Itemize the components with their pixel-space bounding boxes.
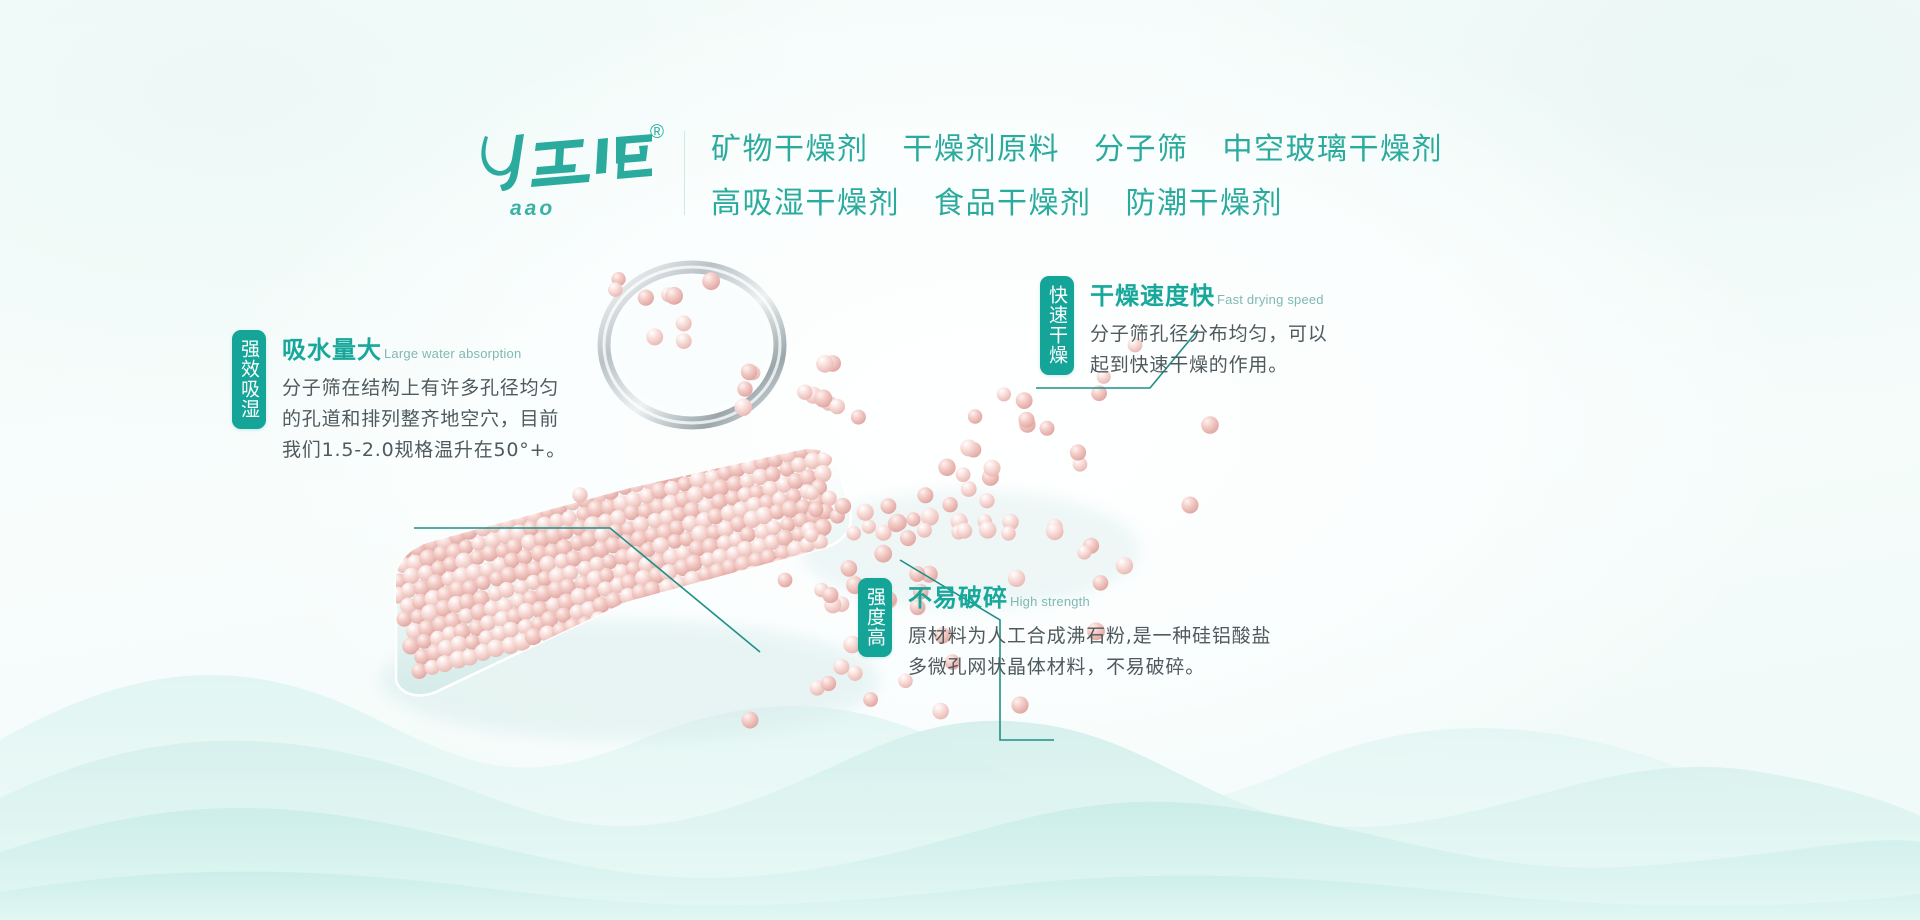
callout-text-line: 分子筛孔径分布均匀，可以: [1090, 319, 1328, 350]
callout-title-strength: 不易破碎: [908, 578, 1008, 613]
callout-text-line: 原材料为人工合成沸石粉,是一种硅铝酸盐: [908, 621, 1271, 652]
callout-text-line: 分子筛在结构上有许多孔径均匀: [282, 373, 566, 404]
registered-trademark-icon: ®: [650, 123, 664, 142]
bottle-cap-ring: [604, 267, 780, 423]
keyword-item[interactable]: 矿物干燥剂: [711, 124, 869, 168]
keyword-item[interactable]: 防潮干燥剂: [1126, 178, 1284, 222]
callout-text-line: 多微孔网状晶体材料，不易破碎。: [908, 652, 1271, 683]
callout-subtitle-strength: High strength: [1010, 594, 1090, 609]
callout-speed: 快速干燥 干燥速度快 Fast drying speed 分子筛孔径分布均匀，可…: [1040, 276, 1328, 381]
callout-title-absorption: 吸水量大: [282, 330, 382, 365]
callout-badge-absorption: 强效吸湿: [232, 330, 266, 429]
callout-text-strength: 原材料为人工合成沸石粉,是一种硅铝酸盐 多微孔网状晶体材料，不易破碎。: [908, 621, 1271, 683]
keyword-item[interactable]: 干燥剂原料: [903, 124, 1061, 168]
banner-header: ® aao 矿物干燥剂 干燥剂原料 分子筛 中空玻璃干燥剂 高吸湿干燥剂 食品干…: [0, 118, 1920, 228]
callout-text-speed: 分子筛孔径分布均匀，可以 起到快速干燥的作用。: [1090, 319, 1328, 381]
keyword-item[interactable]: 中空玻璃干燥剂: [1223, 124, 1444, 168]
callout-title-speed: 干燥速度快: [1090, 276, 1215, 311]
callout-text-line: 起到快速干燥的作用。: [1090, 350, 1328, 381]
callout-text-line: 的孔道和排列整齐地空穴，目前: [282, 404, 566, 435]
header-divider: [684, 131, 685, 215]
callout-text-line: 我们1.5-2.0规格温升在50°+。: [282, 435, 566, 466]
callout-strength: 强度高 不易破碎 High strength 原材料为人工合成沸石粉,是一种硅铝…: [858, 578, 1271, 683]
logo-pinyin: aao: [510, 197, 555, 221]
banner-background: ® aao 矿物干燥剂 干燥剂原料 分子筛 中空玻璃干燥剂 高吸湿干燥剂 食品干…: [0, 0, 1920, 920]
callout-badge-strength: 强度高: [858, 578, 892, 657]
brand-logo[interactable]: ® aao: [480, 121, 670, 225]
keyword-row-2: 高吸湿干燥剂 食品干燥剂 防潮干燥剂: [711, 178, 1443, 222]
keyword-item[interactable]: 食品干燥剂: [934, 178, 1092, 222]
keyword-item[interactable]: 高吸湿干燥剂: [711, 178, 900, 222]
logo-glyph-icon: [480, 129, 652, 195]
callout-subtitle-absorption: Large water absorption: [384, 346, 521, 361]
keyword-item[interactable]: 分子筛: [1094, 124, 1189, 168]
callout-absorption: 强效吸湿 吸水量大 Large water absorption 分子筛在结构上…: [232, 330, 566, 465]
callout-subtitle-speed: Fast drying speed: [1217, 292, 1324, 307]
callout-text-absorption: 分子筛在结构上有许多孔径均匀 的孔道和排列整齐地空穴，目前 我们1.5-2.0规…: [282, 373, 566, 465]
keyword-list: 矿物干燥剂 干燥剂原料 分子筛 中空玻璃干燥剂 高吸湿干燥剂 食品干燥剂 防潮干…: [711, 124, 1443, 222]
keyword-row-1: 矿物干燥剂 干燥剂原料 分子筛 中空玻璃干燥剂: [711, 124, 1443, 168]
callout-badge-speed: 快速干燥: [1040, 276, 1074, 375]
